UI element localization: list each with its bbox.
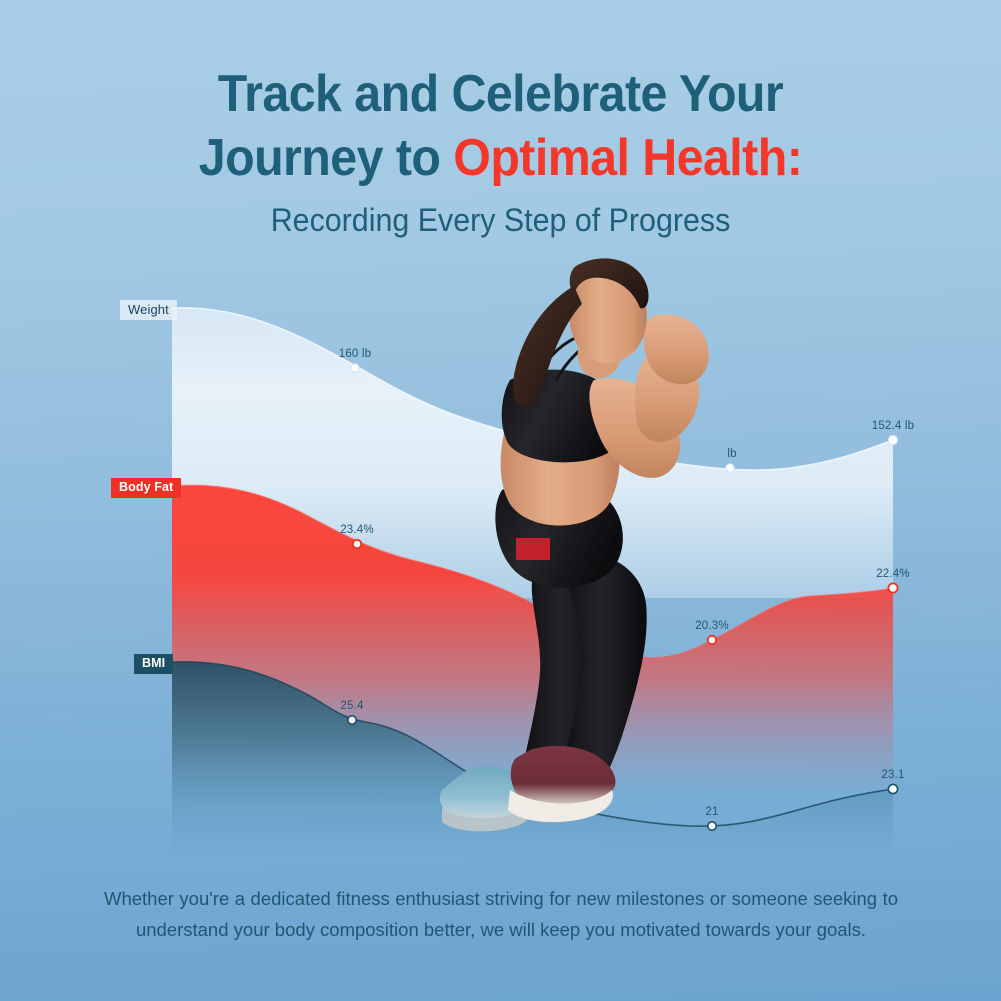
label-bmi-23-1: 23.1 (881, 769, 904, 781)
point-bodyfat-23-4[interactable] (353, 540, 361, 548)
label-bmi-25-4: 25.4 (340, 700, 363, 712)
point-weight-mid[interactable] (726, 464, 734, 472)
point-bodyfat-22-4[interactable] (888, 583, 897, 592)
series-badge-weight[interactable]: Weight (120, 300, 177, 320)
headline-line-2-dark: Journey to (199, 129, 454, 187)
label-weight-160: 160 lb (339, 348, 372, 360)
label-bodyfat-23-4: 23.4% (340, 524, 374, 536)
point-weight-160[interactable] (351, 364, 359, 372)
headline-line-2: Journey to Optimal Health: (35, 126, 966, 190)
point-bodyfat-20-3[interactable] (708, 636, 716, 644)
label-bodyfat-22-4: 22.4% (876, 568, 910, 580)
headline-line-2-red: Optimal Health: (453, 129, 802, 187)
headline-line-1-text: Track and Celebrate Your (218, 65, 783, 123)
label-bmi-21: 21 (705, 806, 718, 818)
point-bmi-23-1[interactable] (888, 784, 897, 793)
body-composition-chart: Weight Body Fat BMI 160 lb lb 152.4 lb 2… (0, 268, 1001, 858)
series-badge-bmi[interactable]: BMI (134, 654, 173, 674)
chart-svg (0, 268, 1001, 858)
point-bmi-22-7[interactable] (526, 797, 534, 805)
label-bodyfat-20-3: 20.3% (695, 620, 729, 632)
page-title: Track and Celebrate Your Journey to Opti… (35, 62, 966, 190)
point-bmi-21[interactable] (708, 822, 716, 830)
label-weight-mid: lb (727, 448, 736, 460)
body-paragraph: Whether you're a dedicated fitness enthu… (104, 883, 898, 945)
poster-root: Track and Celebrate Your Journey to Opti… (0, 0, 1001, 1001)
page-subtitle: Recording Every Step of Progress (25, 202, 976, 239)
point-weight-152-4[interactable] (888, 435, 897, 444)
label-bmi-22-7: 22.7 (520, 781, 543, 793)
series-badge-body-fat[interactable]: Body Fat (111, 478, 181, 498)
point-bmi-25-4[interactable] (348, 716, 356, 724)
label-weight-152-4: 152.4 lb (872, 420, 915, 432)
headline-line-1: Track and Celebrate Your (35, 62, 966, 126)
